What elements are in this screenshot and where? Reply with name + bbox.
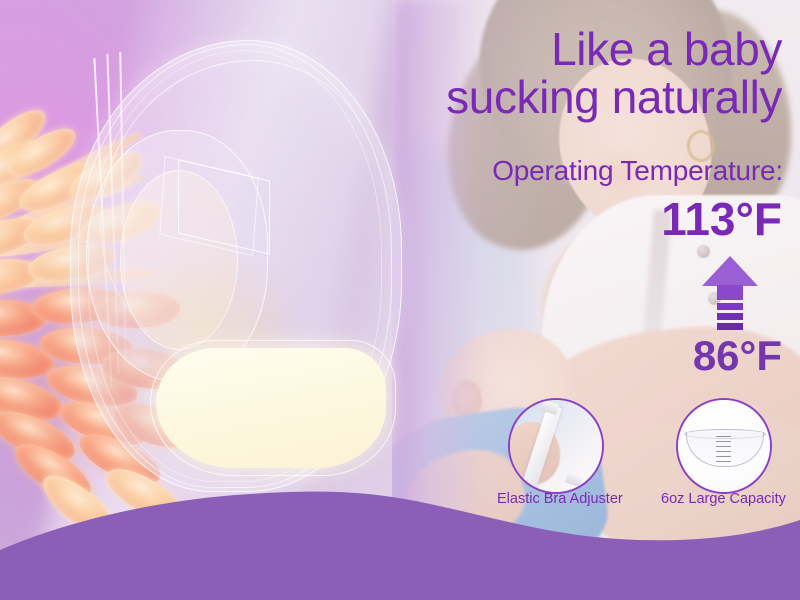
arrow-bar-3 <box>717 323 743 330</box>
headline-line2: sucking naturally <box>242 74 782 122</box>
arrow-bar-1 <box>717 303 743 310</box>
product-marketing-banner: Like a baby sucking naturally Operating … <box>0 0 800 600</box>
up-arrow-icon <box>702 256 758 328</box>
page-title: Like a baby sucking naturally <box>242 26 782 122</box>
bottom-wave-decoration <box>0 480 800 600</box>
temperature-low-value: 86°F <box>693 332 782 380</box>
milk-reservoir-edge <box>150 340 396 476</box>
measurement-marks <box>716 436 734 462</box>
temperature-high-value: 113°F <box>661 192 782 246</box>
arrow-bar-2 <box>717 313 743 320</box>
headline-line1: Like a baby <box>551 23 782 75</box>
operating-temperature-label: Operating Temperature: <box>492 155 783 187</box>
arrow-head <box>702 256 758 286</box>
arrow-shaft <box>717 285 743 300</box>
